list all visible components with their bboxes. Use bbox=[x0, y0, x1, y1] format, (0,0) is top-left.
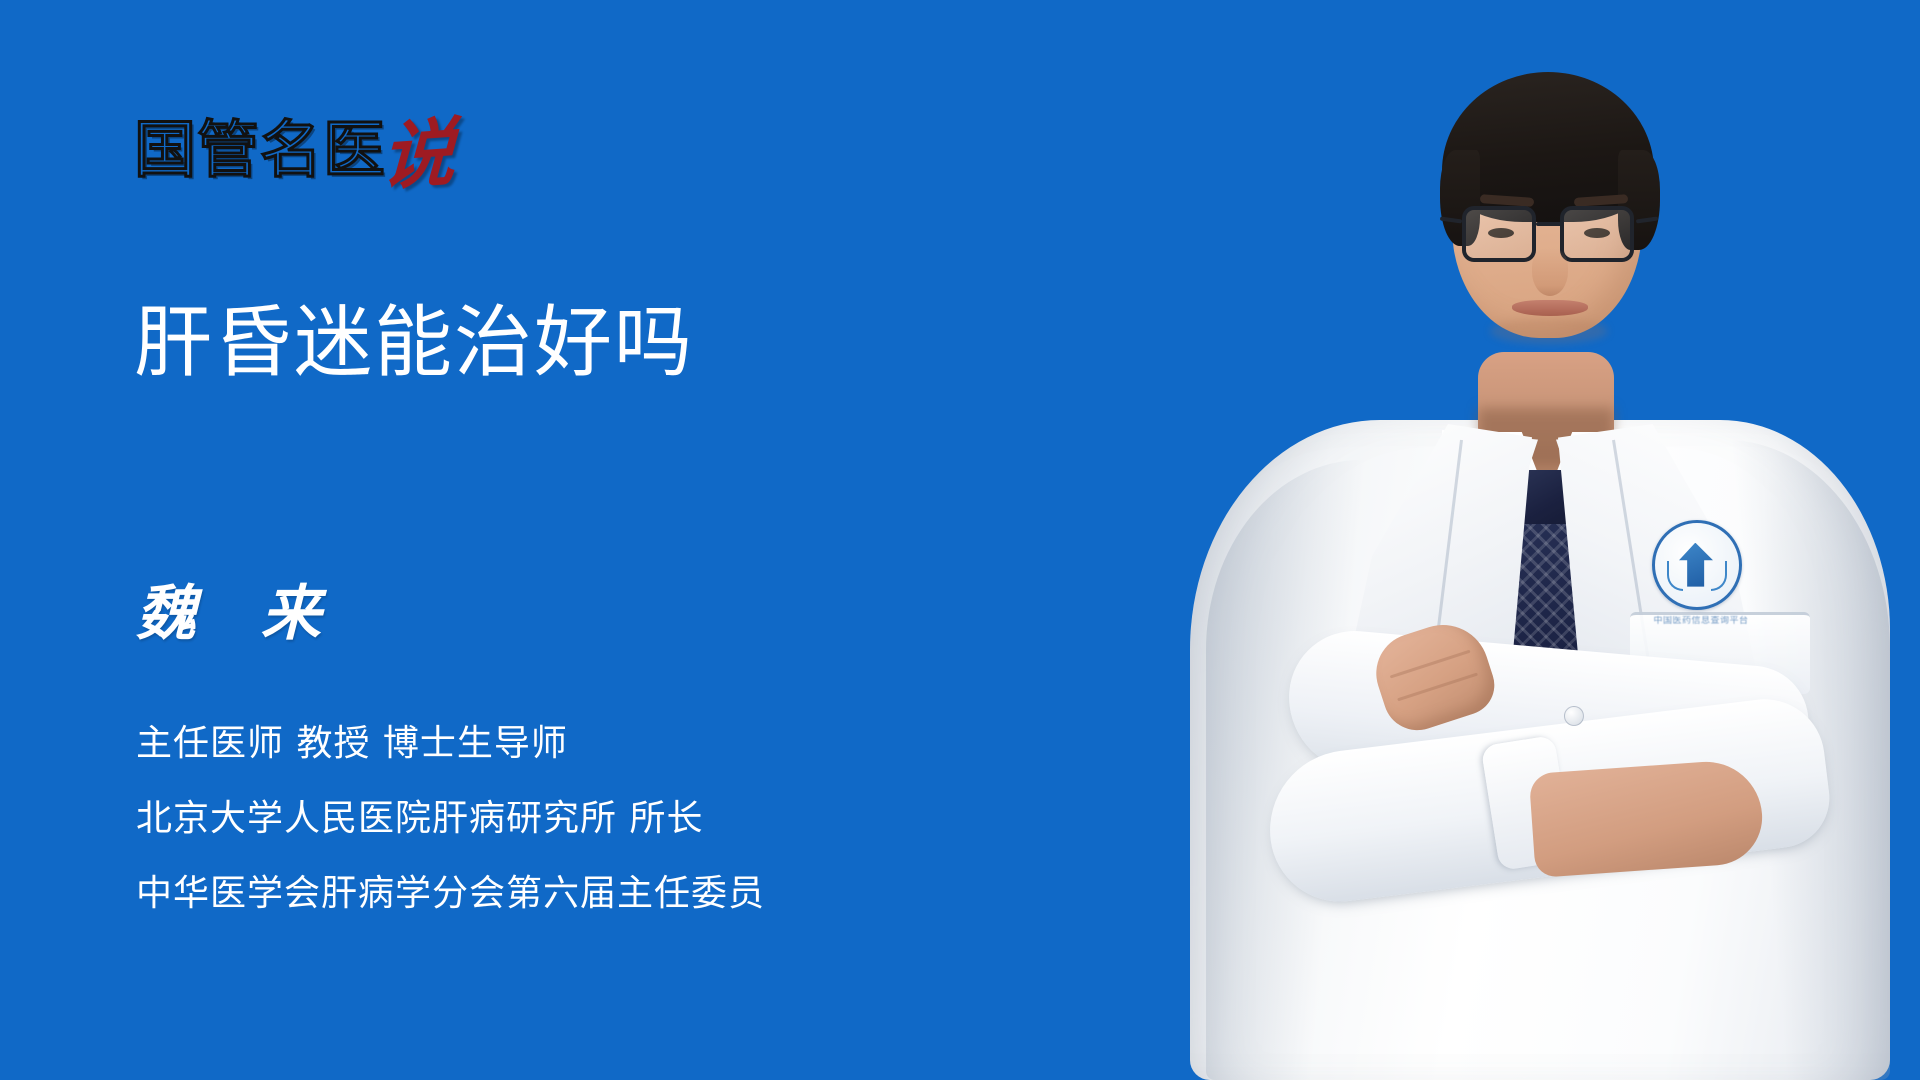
nose bbox=[1532, 248, 1568, 296]
emblem-wheat-right bbox=[1711, 561, 1727, 591]
text-column: 国管名医 说 肝昏迷能治好吗 魏 来 主任医师 教授 博士生导师 北京大学人民医… bbox=[0, 0, 1180, 1080]
credential-line: 中华医学会肝病学分会第六届主任委员 bbox=[136, 872, 765, 916]
eyeglass-lens-right bbox=[1560, 206, 1634, 262]
brand-logo-main-text: 国管名医 bbox=[134, 119, 386, 181]
brand-logo-accent-text: 说 bbox=[380, 122, 456, 189]
mouth bbox=[1512, 300, 1588, 316]
forearm bbox=[1529, 758, 1766, 878]
coat-button bbox=[1564, 706, 1584, 726]
hospital-emblem-icon bbox=[1652, 520, 1742, 610]
credential-line: 主任医师 教授 博士生导师 bbox=[136, 722, 765, 766]
emblem-inner-mark bbox=[1671, 541, 1723, 593]
chin-shadow bbox=[1490, 318, 1608, 344]
credential-line: 北京大学人民医院肝病研究所 所长 bbox=[136, 797, 765, 841]
eyeglass-bridge bbox=[1536, 222, 1562, 226]
promo-slide: 国管名医 说 肝昏迷能治好吗 魏 来 主任医师 教授 博士生导师 北京大学人民医… bbox=[0, 0, 1920, 1080]
speaker-name: 魏 来 bbox=[136, 578, 343, 650]
emblem-arrow-mark bbox=[1679, 543, 1713, 587]
brand-logo: 国管名医 说 bbox=[134, 103, 454, 181]
emblem-label-text: 中国医药信息查询平台 bbox=[1626, 616, 1776, 627]
doctor-portrait: 中国医药信息查询平台 bbox=[1160, 0, 1920, 1080]
page-title: 肝昏迷能治好吗 bbox=[134, 299, 694, 387]
speaker-credentials: 主任医师 教授 博士生导师 北京大学人民医院肝病研究所 所长 中华医学会肝病学分… bbox=[136, 722, 765, 916]
emblem-wheat-left bbox=[1667, 561, 1683, 591]
eyeglass-lens-left bbox=[1462, 206, 1536, 262]
